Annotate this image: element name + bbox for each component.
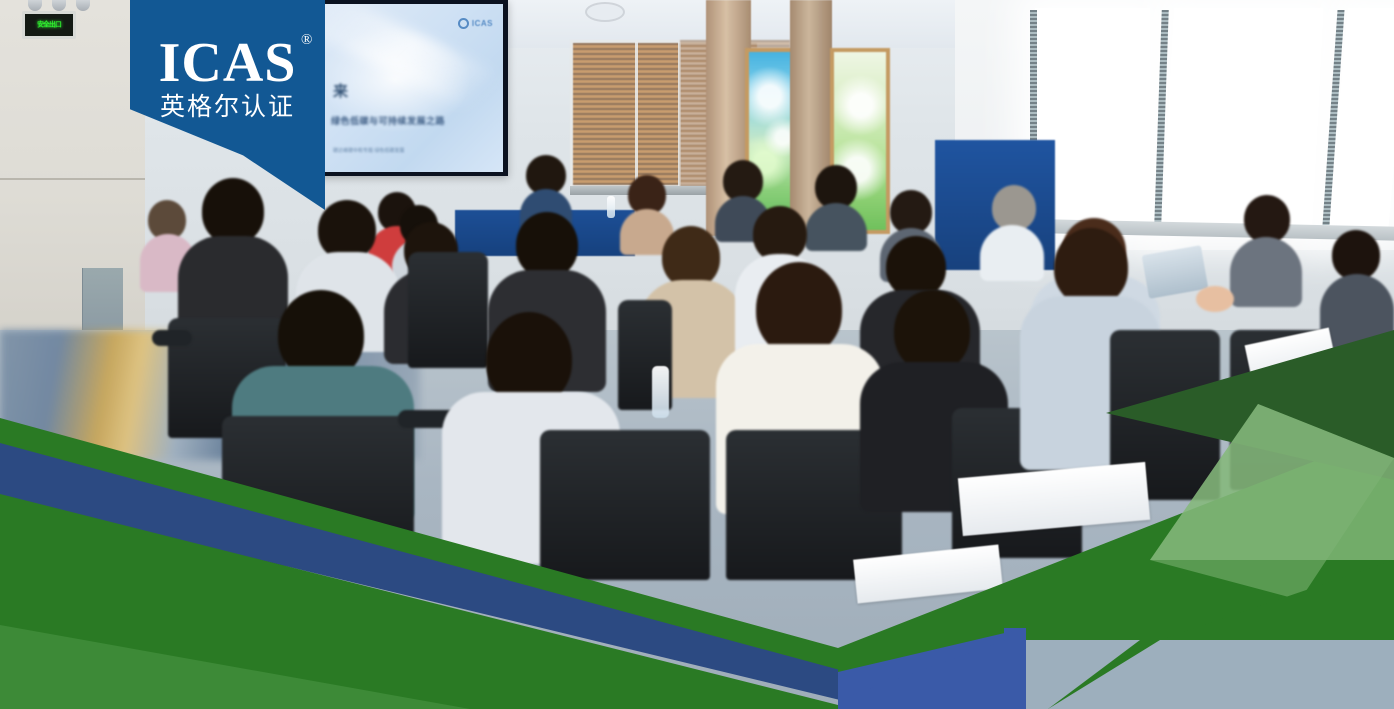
slide-title: 来 xyxy=(333,80,349,101)
hand xyxy=(1228,410,1272,438)
exit-sign: 安全出口 xyxy=(22,11,76,39)
water-bottle xyxy=(607,196,615,218)
water-bottle xyxy=(652,366,669,418)
blind-divider xyxy=(635,42,638,186)
icas-wordmark-text: ICAS xyxy=(159,32,297,94)
hand xyxy=(1196,286,1234,312)
ceiling-vent-icon xyxy=(585,2,625,22)
icas-event-banner: 安全出口 ICAS 来 绿色低碳 xyxy=(0,0,1394,709)
slide-subtitle: 绿色低碳与可持续发展之路 xyxy=(331,114,495,127)
icas-wordmark: ICAS ® xyxy=(159,35,297,91)
chair xyxy=(540,430,710,580)
wall-seam xyxy=(0,178,145,180)
icas-chinese-name: 英格尔认证 xyxy=(160,93,295,121)
registered-trademark-icon: ® xyxy=(301,33,313,48)
attendee xyxy=(1320,230,1394,350)
exit-sign-label: 安全出口 xyxy=(37,22,61,29)
slide-logo-icon xyxy=(458,18,469,29)
slide-footnote: 碳达峰碳中和专题 绿色低碳发展 xyxy=(333,148,404,155)
chair-armrest xyxy=(152,330,192,346)
attendee xyxy=(1230,195,1302,305)
slide-brand-mark: ICAS xyxy=(458,18,493,29)
projection-screen: ICAS 来 绿色低碳与可持续发展之路 碳达峰碳中和专题 绿色低碳发展 xyxy=(318,0,508,176)
chair xyxy=(222,416,414,566)
